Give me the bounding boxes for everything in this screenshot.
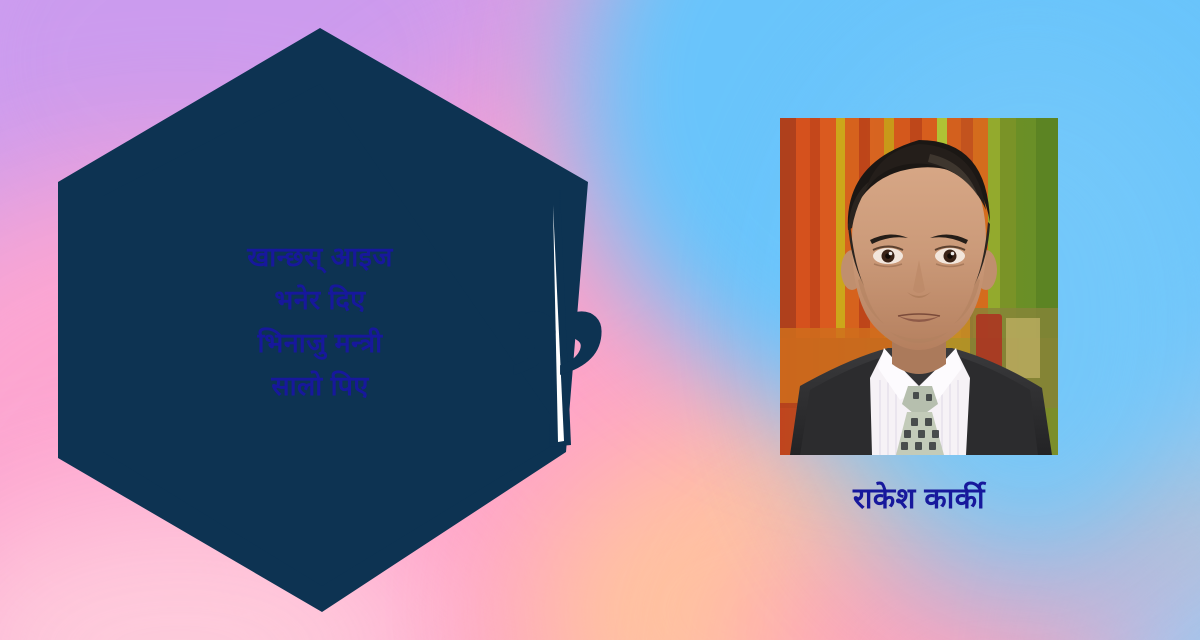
quote-line-4: सालो पिए: [152, 365, 488, 408]
closing-quote-icon: ”: [506, 388, 622, 508]
portrait-illustration: [780, 118, 1058, 455]
quote-card-canvas: ” खान्छस् आइज भनेर दिए भिनाजु मन्त्री सा…: [0, 0, 1200, 640]
quote-line-3: भिनाजु मन्त्री: [152, 322, 488, 365]
quote-line-2: भनेर दिए: [152, 279, 488, 322]
person-name-caption: राकेश कार्की: [780, 478, 1058, 517]
closing-quote-glyph: ”: [506, 276, 609, 486]
quote-text-block: खान्छस् आइज भनेर दिए भिनाजु मन्त्री सालो…: [152, 236, 488, 408]
quote-line-1: खान्छस् आइज: [152, 236, 488, 279]
person-portrait-photo: [780, 118, 1058, 455]
